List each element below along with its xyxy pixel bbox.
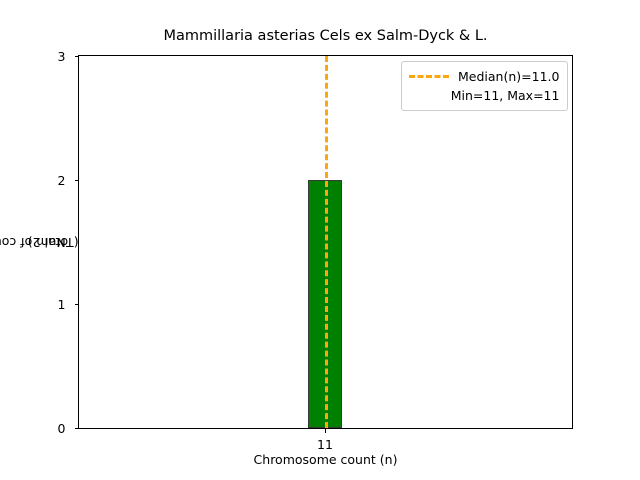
chart-title: Mammillaria asterias Cels ex Salm-Dyck &… [78,28,573,44]
x-tick-mark-11 [325,428,326,433]
legend-label-median: Median(n)=11.0 [458,69,559,84]
y-tick-label-3: 3 [58,51,66,64]
legend-label-minmax: Min=11, Max=11 [409,88,559,103]
legend-item-median: Median(n)=11.0 [409,67,559,86]
y-tick-label-2: 2 [58,175,66,188]
dashed-line-icon [409,75,449,78]
median-line [325,56,328,428]
y-tick-mark-0: 0 [75,428,80,429]
legend-item-minmax: Min=11, Max=11 [409,86,559,105]
x-tick-label-11: 11 [317,437,333,452]
x-axis-label: Chromosome count (n) [78,452,573,467]
plot-inner [79,56,572,428]
chart-figure: Mammillaria asterias Cels ex Salm-Dyck &… [0,0,640,480]
y-tick-label-1: 1 [58,299,66,312]
y-axis-label: Num of counts (Total 2) [24,55,50,429]
plot-area: 0 1 2 3 11 Median(n)=11.0 Min=11, M [78,55,573,429]
y-tick-label-0: 0 [58,423,66,436]
legend: Median(n)=11.0 Min=11, Max=11 [401,61,568,111]
